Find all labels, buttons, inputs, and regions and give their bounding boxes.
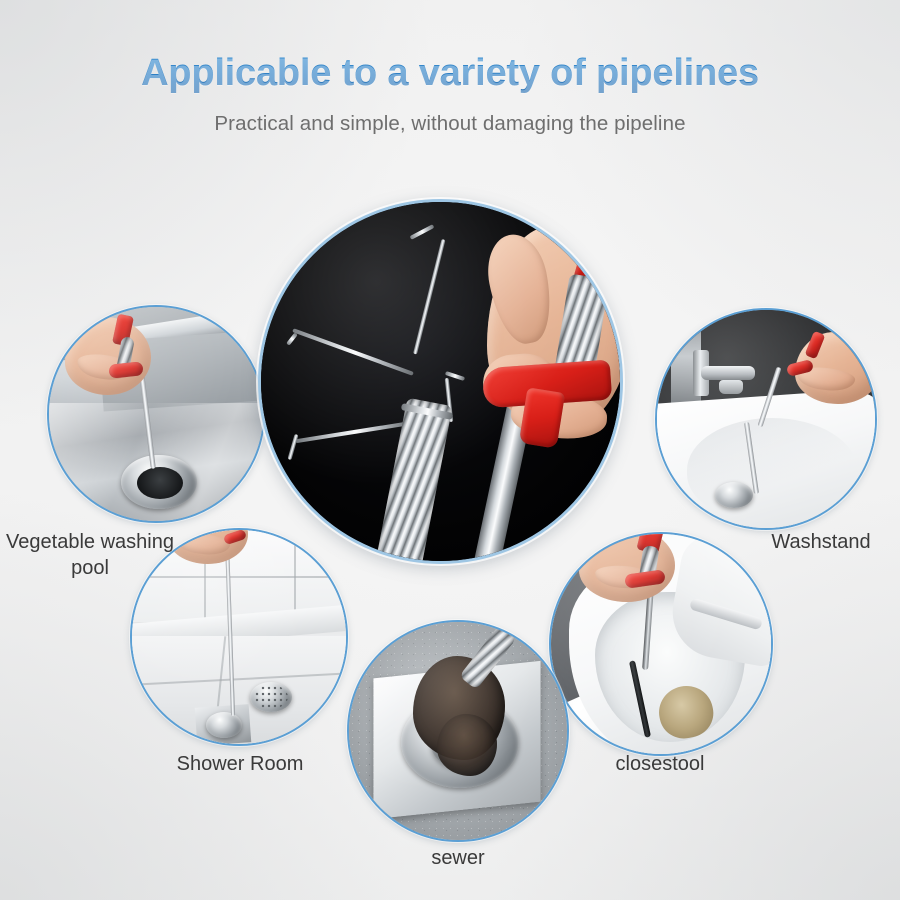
hair-clog-strands [437,714,497,776]
floor-drain-grate-holes [254,685,288,709]
claw-prong-left [292,328,414,376]
hero-product-photo [261,202,620,561]
basin-drain [715,482,753,508]
claw-prong-upper [413,239,445,354]
scene-circle-sewer [347,620,569,842]
label-closestool: closestool [578,752,742,778]
basin-inner-shadow [687,418,857,522]
claw-prong-upper-hook [410,224,435,240]
promo-image-canvas: Applicable to a variety of pipelines Pra… [0,0,900,900]
washstand-photo [657,310,875,528]
scene-circle-vegetable-washing-pool [47,305,265,523]
label-shower-room: Shower Room [148,752,332,778]
sewer-photo [349,622,567,840]
scene-circle-closestool [549,532,773,756]
claw-prong-left-tip [286,332,298,345]
hero-product-circle [258,199,623,564]
floor-drain-square-bowl [206,712,242,738]
claw-prong-lower-left-hook [287,434,298,460]
label-washstand: Washstand [742,530,900,556]
label-vegetable-washing-pool: Vegetable washing pool [0,530,180,581]
heading-block: Applicable to a variety of pipelines Pra… [0,52,900,136]
claw-prong-lower-left [295,421,412,443]
closestool-photo [551,534,771,754]
sink-drain-hole [137,467,183,499]
handle-trigger-stem [519,387,565,448]
faucet-base [719,380,743,394]
scene-circle-washstand [655,308,877,530]
label-sewer: sewer [360,846,556,872]
page-subtitle: Practical and simple, without damaging t… [0,112,900,136]
tool-spring-body [367,398,452,564]
vegetable-washing-pool-photo [49,307,263,521]
page-title: Applicable to a variety of pipelines [0,52,900,96]
faucet-spout [701,366,755,380]
